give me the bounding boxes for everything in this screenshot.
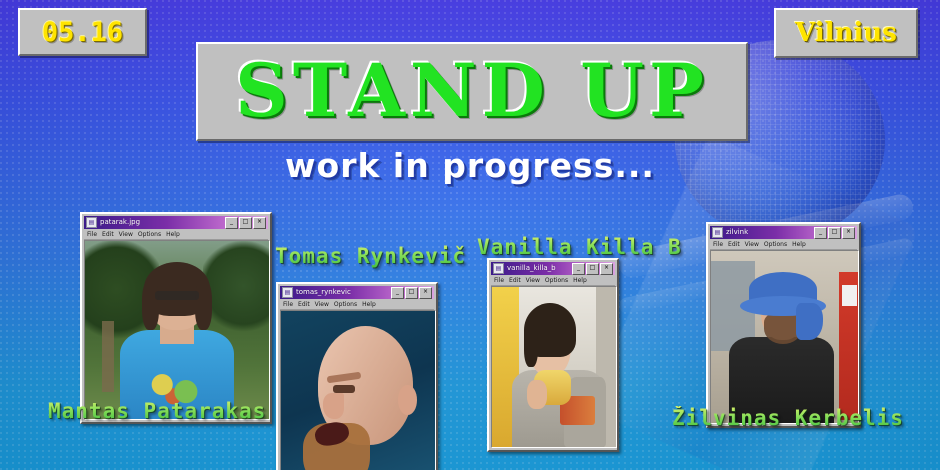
maximize-button[interactable]: □ [828, 227, 841, 239]
close-button[interactable]: × [253, 217, 266, 229]
performer-photo [710, 250, 859, 424]
photo-red-panel-label [842, 285, 857, 306]
performer-name: Tomas Rynkevič [275, 244, 466, 268]
subtitle: work in progress... [0, 146, 940, 185]
maximize-button[interactable]: □ [586, 263, 599, 275]
performer-photo [84, 240, 270, 420]
photo-nose [323, 393, 345, 419]
photo-hair-right [195, 280, 212, 330]
photo-hand [527, 380, 547, 409]
menu-item-options[interactable]: Options [334, 300, 357, 309]
window-title: patarak.jpg [100, 218, 225, 227]
window-menubar[interactable]: File Edit View Options Help [280, 299, 434, 310]
minimize-button[interactable]: _ [814, 227, 827, 239]
date-badge: 05.16 [18, 8, 147, 56]
menu-item-help[interactable]: Help [166, 230, 180, 239]
menu-item-edit[interactable]: Edit [102, 230, 114, 239]
close-button[interactable]: × [600, 263, 613, 275]
window-title: tomas_rynkevic [296, 288, 391, 297]
window-titlebar[interactable]: ▤ tomas_rynkevic _ □ × [280, 286, 434, 299]
photo-eye [333, 385, 355, 392]
menu-item-help[interactable]: Help [573, 276, 587, 285]
maximize-button[interactable]: □ [405, 287, 418, 299]
photo-window[interactable]: ▤ zilvink _ □ × File Edit View Options H… [706, 222, 861, 428]
image-file-icon: ▤ [282, 287, 293, 298]
page-title: STAND UP [235, 55, 709, 128]
window-controls[interactable]: _ □ × [572, 263, 613, 275]
performer-photo [280, 310, 436, 470]
window-titlebar[interactable]: ▤ zilvink _ □ × [710, 226, 857, 239]
window-menubar[interactable]: File Edit View Options Help [84, 229, 268, 240]
window-title: vanilla_killa_b [507, 264, 572, 273]
menu-item-view[interactable]: View [315, 300, 329, 309]
window-title: zilvink [726, 228, 814, 237]
photo-hair-left [142, 280, 159, 330]
photo-trunk [102, 321, 115, 392]
menu-item-file[interactable]: File [283, 300, 293, 309]
menu-item-view[interactable]: View [119, 230, 133, 239]
performer-photo [491, 286, 617, 448]
photo-glasses [155, 291, 199, 300]
menu-item-options[interactable]: Options [138, 230, 161, 239]
photo-ear [398, 385, 416, 415]
minimize-button[interactable]: _ [391, 287, 404, 299]
close-button[interactable]: × [419, 287, 432, 299]
menu-item-file[interactable]: File [713, 240, 723, 249]
date-badge-label: 05.16 [42, 17, 123, 48]
photo-window[interactable]: ▤ tomas_rynkevic _ □ × File Edit View Op… [276, 282, 438, 470]
photo-hair-side [524, 325, 538, 367]
performer-name: Vanilla Killa B [477, 235, 682, 259]
window-controls[interactable]: _ □ × [225, 217, 266, 229]
image-file-icon: ▤ [86, 217, 97, 228]
image-file-icon: ▤ [712, 227, 723, 238]
poster-canvas: 05.16 Vilnius STAND UP work in progress.… [0, 0, 940, 470]
performer-name: Žilvinas Kerbelis [672, 406, 904, 430]
window-controls[interactable]: _ □ × [814, 227, 855, 239]
menu-item-help[interactable]: Help [362, 300, 376, 309]
menu-item-options[interactable]: Options [764, 240, 787, 249]
city-badge-label: Vilnius [795, 18, 897, 48]
window-controls[interactable]: _ □ × [391, 287, 432, 299]
menu-item-file[interactable]: File [87, 230, 97, 239]
menu-item-edit[interactable]: Edit [509, 276, 521, 285]
close-button[interactable]: × [842, 227, 855, 239]
minimize-button[interactable]: _ [225, 217, 238, 229]
performer-name: Mantas Patarakas [48, 399, 266, 423]
maximize-button[interactable]: □ [239, 217, 252, 229]
photo-tree-right [203, 240, 270, 335]
photo-hat-brim-down [796, 303, 822, 341]
menu-item-options[interactable]: Options [545, 276, 568, 285]
menu-item-view[interactable]: View [526, 276, 540, 285]
menu-item-file[interactable]: File [494, 276, 504, 285]
photo-window[interactable]: ▤ patarak.jpg _ □ × File Edit View Optio… [80, 212, 272, 424]
image-file-icon: ▤ [493, 263, 504, 274]
menu-item-edit[interactable]: Edit [728, 240, 740, 249]
photo-window[interactable]: ▤ vanilla_killa_b _ □ × File Edit View O… [487, 258, 619, 452]
menu-item-view[interactable]: View [745, 240, 759, 249]
minimize-button[interactable]: _ [572, 263, 585, 275]
menu-item-edit[interactable]: Edit [298, 300, 310, 309]
menu-item-help[interactable]: Help [792, 240, 806, 249]
window-menubar[interactable]: File Edit View Options Help [710, 239, 857, 250]
city-badge: Vilnius [774, 8, 918, 58]
window-titlebar[interactable]: ▤ vanilla_killa_b _ □ × [491, 262, 615, 275]
title-panel: STAND UP [196, 42, 748, 141]
window-menubar[interactable]: File Edit View Options Help [491, 275, 615, 286]
window-titlebar[interactable]: ▤ patarak.jpg _ □ × [84, 216, 268, 229]
